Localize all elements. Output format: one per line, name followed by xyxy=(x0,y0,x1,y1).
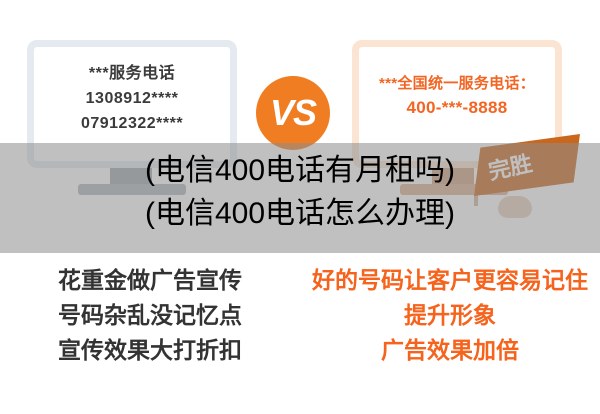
overlay-caption-line-1: (电信400电话有月租吗) xyxy=(0,150,600,193)
bottom-right-line-3: 广告效果加倍 xyxy=(300,333,600,368)
right-card-line-1: ***全国统一服务电话： xyxy=(352,72,562,95)
bottom-right-line-2: 提升形象 xyxy=(300,298,600,333)
bottom-left-line-3: 宣传效果大打折扣 xyxy=(0,333,300,368)
bottom-right-line-1: 好的号码让客户更容易记住 xyxy=(300,263,600,298)
vs-badge-label: VS xyxy=(270,95,316,131)
left-card-text: ***服务电话 1308912**** 07912322**** xyxy=(27,62,237,136)
overlay-caption-line-2: (电信400电话怎么办理) xyxy=(0,193,600,236)
bottom-comparison: 花重金做广告宣传 号码杂乱没记忆点 宣传效果大打折扣 好的号码让客户更容易记住 … xyxy=(0,255,600,414)
left-card-line-3: 07912322**** xyxy=(27,112,237,137)
left-card-line-2: 1308912**** xyxy=(27,87,237,112)
bottom-right-column: 好的号码让客户更容易记住 提升形象 广告效果加倍 xyxy=(300,255,600,414)
overlay-caption: (电信400电话有月租吗) (电信400电话怎么办理) xyxy=(0,150,600,235)
poster-canvas: ***服务电话 1308912**** 07912322**** ***全国统一… xyxy=(0,0,600,414)
bottom-left-line-1: 花重金做广告宣传 xyxy=(0,263,300,298)
right-card-line-2: 400-***-8888 xyxy=(352,95,562,121)
right-card-text: ***全国统一服务电话： 400-***-8888 xyxy=(352,72,562,122)
left-card-line-1: ***服务电话 xyxy=(27,62,237,87)
bottom-left-line-2: 号码杂乱没记忆点 xyxy=(0,298,300,333)
vs-badge: VS xyxy=(256,76,330,150)
bottom-left-column: 花重金做广告宣传 号码杂乱没记忆点 宣传效果大打折扣 xyxy=(0,255,300,414)
